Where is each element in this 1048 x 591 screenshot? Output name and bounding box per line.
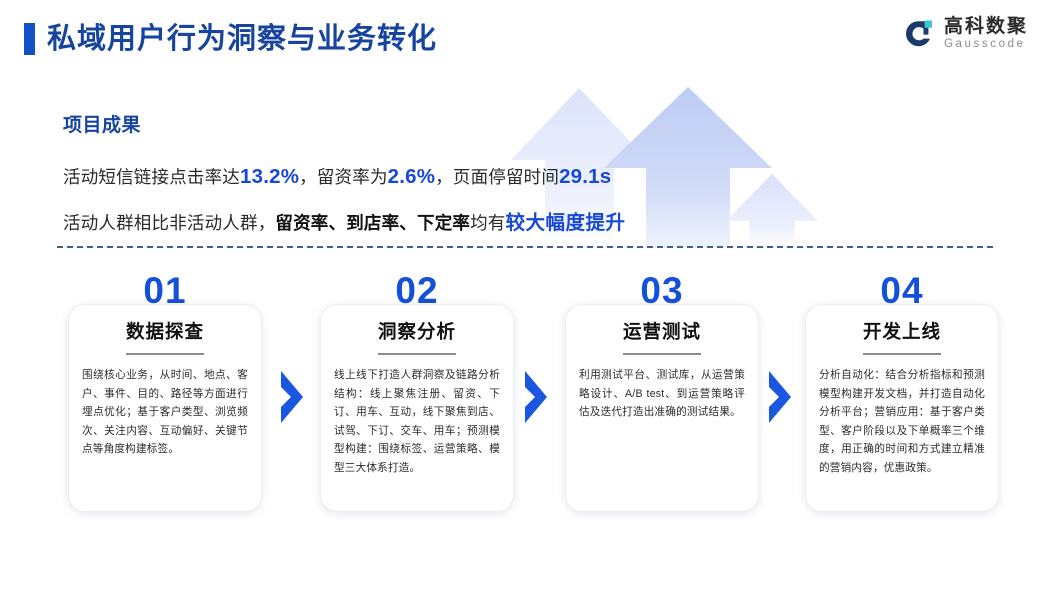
comparison-text-2: 均有 [470, 213, 505, 233]
result-text-1: 活动短信链接点击率达 [63, 167, 240, 187]
comparison-text-1: 活动人群相比非活动人群， [63, 213, 275, 233]
result-line-comparison: 活动人群相比非活动人群，留资率、到店率、下定率均有较大幅度提升 [63, 208, 626, 238]
background-arrow-right [726, 174, 818, 246]
metric-lead-rate: 2.6% [388, 165, 436, 188]
step-card[interactable]: 数据探查 围绕核心业务，从时间、地点、客户、事件、目的、路径等方面进行埋点优化；… [68, 304, 262, 512]
logo-name-cn: 高科数聚 [944, 16, 1028, 37]
step-title-rule [863, 353, 941, 355]
result-line-metrics: 活动短信链接点击率达13.2%，留资率为2.6%，页面停留时间29.1s [63, 162, 626, 192]
metric-dwell-time: 29.1s [559, 165, 611, 188]
step-title: 数据探查 [82, 320, 248, 344]
result-text-3: ，页面停留时间 [435, 167, 559, 187]
result-text-2: ，留资率为 [299, 167, 388, 187]
logo-name-en: Gausscode [944, 37, 1028, 51]
step-body: 利用测试平台、测试库，从运营策略设计、A/B test、到运营策略评估及迭代打造… [579, 366, 745, 422]
chevron-right-icon [765, 367, 795, 427]
results-heading: 项目成果 [63, 110, 626, 137]
step-title-rule [378, 353, 456, 355]
chevron-right-icon [521, 367, 551, 427]
step-card[interactable]: 开发上线 分析自动化：结合分析指标和预测模型构建开发文档，并打造自动化分析平台；… [805, 304, 999, 512]
comparison-metrics: 留资率、到店率、下定率 [275, 213, 470, 233]
metric-click-rate: 13.2% [240, 165, 299, 188]
step-card[interactable]: 运营测试 利用测试平台、测试库，从运营策略设计、A/B test、到运营策略评估… [565, 304, 759, 512]
gausscode-logo-icon [901, 17, 935, 51]
step-card[interactable]: 洞察分析 线上线下打造人群洞察及链路分析结构：线上聚焦注册、留资、下订、用车、互… [320, 304, 514, 512]
step-title: 洞察分析 [334, 320, 500, 344]
chevron-right-icon [277, 367, 307, 427]
step-body: 分析自动化：结合分析指标和预测模型构建开发文档，并打造自动化分析平台；营销应用：… [819, 366, 985, 478]
background-arrow-center [604, 87, 772, 246]
step-title: 运营测试 [579, 320, 745, 344]
project-results-block: 项目成果 活动短信链接点击率达13.2%，留资率为2.6%，页面停留时间29.1… [63, 110, 626, 254]
page-title: 私域用户行为洞察与业务转化 [47, 20, 437, 58]
brand-logo: 高科数聚 Gausscode [901, 16, 1028, 51]
step-body: 围绕核心业务，从时间、地点、客户、事件、目的、路径等方面进行埋点优化；基于客户类… [82, 366, 248, 459]
step-title-rule [126, 353, 204, 355]
step-title: 开发上线 [819, 320, 985, 344]
page-header: 私域用户行为洞察与业务转化 高科数聚 Gausscode [0, 0, 1048, 78]
step-title-rule [623, 353, 701, 355]
process-steps: 01 数据探查 围绕核心业务，从时间、地点、客户、事件、目的、路径等方面进行埋点… [0, 272, 1048, 532]
title-accent-bar [24, 23, 35, 55]
comparison-highlight: 较大幅度提升 [506, 212, 626, 234]
step-body: 线上线下打造人群洞察及链路分析结构：线上聚焦注册、留资、下订、用车、互动，线下聚… [334, 366, 500, 478]
